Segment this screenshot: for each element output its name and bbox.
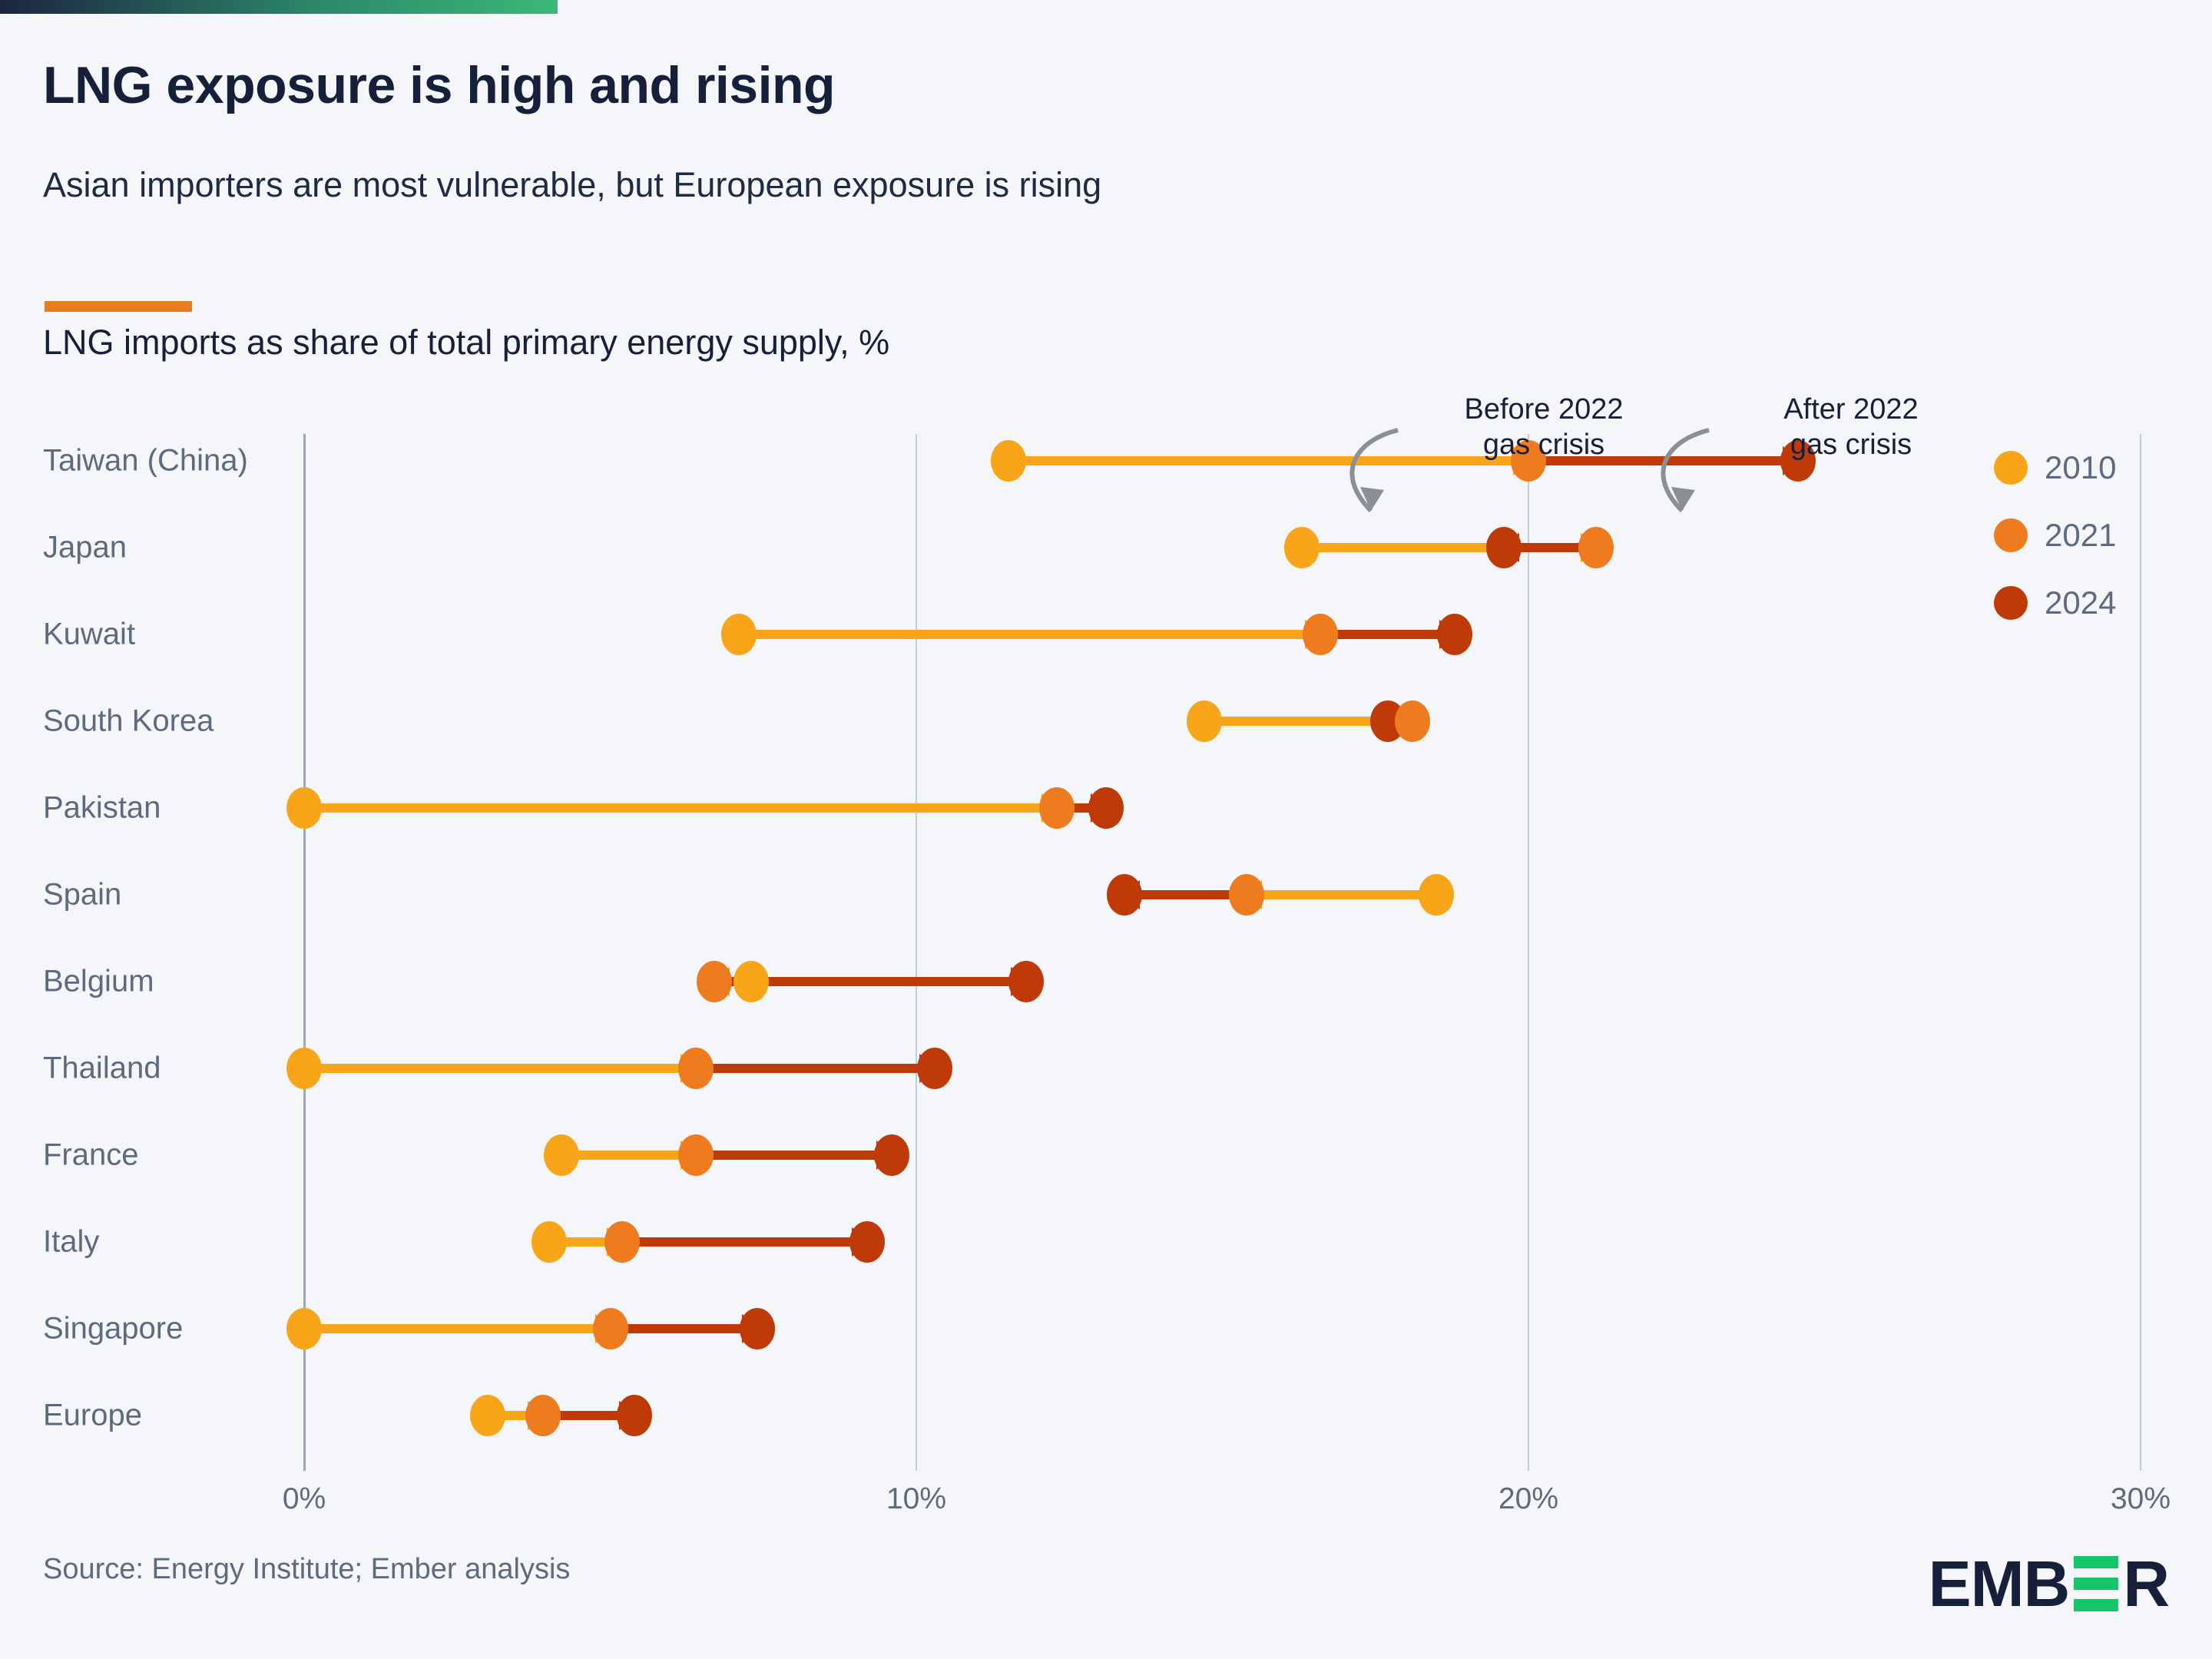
x-tick-label: 30% [2111, 1482, 2171, 1516]
arrow-shaft [321, 803, 1043, 813]
annotation-before-2022: Before 2022 gas crisis [1406, 392, 1682, 463]
arrow-head-icon [1091, 793, 1114, 823]
row-label-italy: Italy [43, 1225, 99, 1260]
arrow-head-icon [1581, 533, 1604, 562]
source-note: Source: Energy Institute; Ember analysis [43, 1553, 570, 1586]
arrow-2010-to-2021 [505, 1411, 529, 1420]
data-point-2010[interactable] [991, 440, 1026, 482]
arrow-shaft [1518, 543, 1579, 552]
data-point-2021[interactable] [678, 1048, 714, 1089]
data-point-2021[interactable] [1578, 527, 1614, 568]
legend-item-2024[interactable]: 2024 [1994, 579, 2116, 627]
accent-rule [45, 301, 192, 312]
data-point-2010[interactable] [286, 1048, 322, 1089]
data-point-2021[interactable] [1303, 614, 1338, 655]
arrow-shaft [1138, 890, 1230, 899]
arrow-head-icon [876, 1141, 899, 1170]
row-label-thailand: Thailand [43, 1051, 161, 1086]
arrow-head-icon [1305, 620, 1328, 649]
arrow-head-icon [619, 1401, 642, 1430]
logo-text-r: R [2123, 1551, 2169, 1616]
row-label-taiwan-china-: Taiwan (China) [43, 444, 248, 478]
data-point-2024[interactable] [740, 1308, 775, 1349]
arrow-shaft [728, 977, 734, 986]
arrow-2021-to-2024 [628, 1324, 743, 1333]
legend-item-2010[interactable]: 2010 [1994, 444, 2116, 492]
arrow-2021-to-2024 [713, 1151, 878, 1160]
data-point-2010[interactable] [544, 1134, 579, 1176]
arrow-2010-to-2021 [321, 803, 1043, 813]
data-point-2021[interactable] [678, 1134, 714, 1176]
data-point-2021[interactable] [1039, 787, 1075, 829]
row-label-pakistan: Pakistan [43, 791, 161, 826]
arrow-2021-to-2024 [731, 977, 1012, 986]
arrow-head-icon [919, 1054, 942, 1083]
arrow-shaft [578, 1151, 682, 1160]
arrow-head-icon [1041, 793, 1065, 823]
logo-text-emb: EMB [1929, 1551, 2070, 1616]
arrow-shaft [1221, 717, 1399, 726]
data-point-2010[interactable] [286, 787, 322, 829]
arrow-shaft [628, 1324, 743, 1333]
data-point-2024[interactable] [617, 1395, 652, 1436]
arrow-shaft [321, 1324, 597, 1333]
data-point-2021[interactable] [1229, 874, 1264, 916]
arrow-2021-to-2024 [1402, 717, 1403, 726]
data-point-2010[interactable] [1187, 700, 1222, 742]
chart-subtitle: LNG imports as share of total primary en… [43, 323, 889, 363]
arrow-2010-to-2021 [1319, 543, 1582, 552]
logo-e-bars-icon [2074, 1551, 2118, 1616]
row-label-france: France [43, 1138, 139, 1173]
arrow-shaft [505, 1411, 529, 1420]
data-point-2010[interactable] [1284, 527, 1320, 568]
row-label-south-korea: South Korea [43, 704, 214, 739]
arrow-head-icon [707, 967, 730, 996]
legend-swatch-icon [1994, 451, 2028, 485]
arrow-shaft [731, 977, 1012, 986]
arrow-shaft [639, 1237, 853, 1247]
gridline-0 [303, 434, 306, 1471]
arrow-shaft [1319, 543, 1582, 552]
arrow-head-icon [852, 1227, 875, 1257]
arrow-2021-to-2024 [1337, 630, 1441, 639]
arrow-head-icon [1117, 880, 1140, 909]
arrow-shaft [321, 1064, 682, 1073]
chart-legend: 201020212024 [1994, 444, 2116, 647]
row-label-europe: Europe [43, 1399, 142, 1433]
data-point-2010[interactable] [733, 961, 769, 1002]
arrow-2021-to-2024 [1138, 890, 1230, 899]
data-point-2021[interactable] [604, 1221, 640, 1263]
legend-item-2021[interactable]: 2021 [1994, 512, 2116, 559]
data-point-2021[interactable] [525, 1395, 561, 1436]
data-point-2010[interactable] [286, 1308, 322, 1349]
data-point-2024[interactable] [1107, 874, 1142, 916]
arrow-2021-to-2024 [1518, 543, 1579, 552]
arrow-head-icon [1380, 707, 1403, 736]
x-tick-label: 20% [1498, 1482, 1558, 1516]
arrow-2010-to-2021 [1260, 890, 1419, 899]
brand-gradient-bar [0, 0, 558, 14]
arrow-head-icon [1011, 967, 1034, 996]
legend-swatch-icon [1994, 518, 2028, 552]
data-point-2024[interactable] [1437, 614, 1472, 655]
legend-label: 2021 [2045, 517, 2116, 554]
data-point-2010[interactable] [1419, 874, 1454, 916]
data-point-2010[interactable] [721, 614, 757, 655]
arrow-head-icon [528, 1401, 551, 1430]
arrow-shaft [560, 1411, 621, 1420]
arrow-shaft [713, 1151, 878, 1160]
data-point-2024[interactable] [1370, 700, 1406, 742]
row-label-belgium: Belgium [43, 965, 154, 999]
gridline-10 [916, 434, 917, 1471]
data-point-2024[interactable] [849, 1221, 885, 1263]
arrow-head-icon [1496, 533, 1519, 562]
data-point-2024[interactable] [1088, 787, 1124, 829]
arrow-2010-to-2021 [728, 977, 734, 986]
data-point-2024[interactable] [917, 1048, 952, 1089]
arrow-shaft [1402, 717, 1403, 726]
arrow-2021-to-2024 [560, 1411, 621, 1420]
arrow-shaft [1260, 890, 1419, 899]
arrow-2021-to-2024 [1074, 803, 1092, 813]
arrow-2021-to-2024 [639, 1237, 853, 1247]
data-point-2021[interactable] [697, 961, 732, 1002]
chart-plot-area: 0%10%20%30%Taiwan (China)JapanKuwaitSout… [0, 0, 2212, 1659]
arrow-2021-to-2024 [713, 1064, 921, 1073]
data-point-2010[interactable] [531, 1221, 567, 1263]
arrow-shaft [713, 1064, 921, 1073]
data-point-2024[interactable] [1008, 961, 1044, 1002]
arrow-head-icon [1397, 707, 1420, 736]
arrow-2010-to-2021 [321, 1324, 597, 1333]
row-label-japan: Japan [43, 531, 127, 565]
arrow-2010-to-2021 [321, 1064, 682, 1073]
row-label-kuwait: Kuwait [43, 618, 135, 652]
page-subtitle: Asian importers are most vulnerable, but… [43, 165, 1101, 205]
row-label-spain: Spain [43, 878, 121, 912]
row-label-singapore: Singapore [43, 1312, 183, 1346]
legend-label: 2010 [2045, 449, 2116, 486]
legend-swatch-icon [1994, 586, 2028, 620]
gridline-30 [2140, 434, 2141, 1471]
arrow-head-icon [607, 1227, 630, 1257]
gridline-20 [1528, 434, 1529, 1471]
arrow-2010-to-2021 [578, 1151, 682, 1160]
arrow-2010-to-2021 [1221, 717, 1399, 726]
arrow-head-icon [680, 1054, 704, 1083]
arrow-shaft [566, 1237, 609, 1247]
data-point-2021[interactable] [593, 1308, 628, 1349]
legend-label: 2024 [2045, 584, 2116, 621]
annotation-after-2022: After 2022 gas crisis [1713, 392, 1989, 463]
ember-logo: EMB R [1929, 1551, 2169, 1616]
arrow-head-icon [1439, 620, 1462, 649]
x-tick-label: 0% [283, 1482, 326, 1516]
arrow-shaft [1074, 803, 1092, 813]
arrow-shaft [756, 630, 1306, 639]
arrow-head-icon [742, 1314, 765, 1343]
arrow-2010-to-2021 [566, 1237, 609, 1247]
data-point-2010[interactable] [470, 1395, 505, 1436]
data-point-2021[interactable] [1395, 700, 1430, 742]
x-tick-label: 10% [886, 1482, 946, 1516]
arrow-head-icon [680, 1141, 704, 1170]
arrow-shaft [1337, 630, 1441, 639]
annotation-arrows [0, 0, 2212, 1659]
data-point-2024[interactable] [1486, 527, 1522, 568]
arrow-2010-to-2021 [756, 630, 1306, 639]
arrow-head-icon [1239, 880, 1262, 909]
page-title: LNG exposure is high and rising [43, 55, 835, 115]
arrow-head-icon [595, 1314, 618, 1343]
data-point-2024[interactable] [874, 1134, 909, 1176]
